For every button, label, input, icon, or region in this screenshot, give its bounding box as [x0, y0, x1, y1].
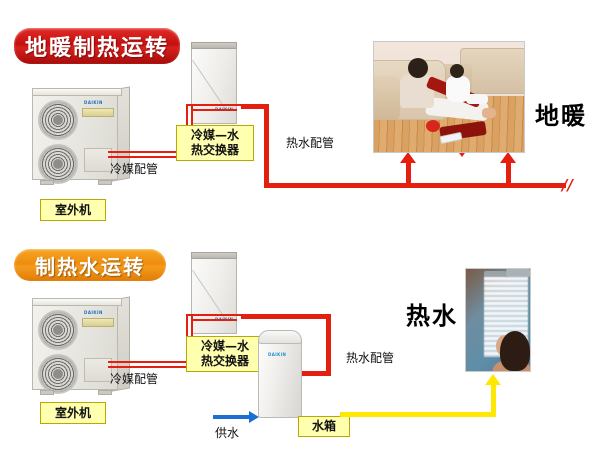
- label-hot-water-destination: 热水: [406, 296, 458, 331]
- floor-riser-left-arrow-icon: [400, 152, 416, 163]
- unit-badge: [82, 318, 114, 327]
- label-refrigerant-pipe-top: 冷媒配管: [110, 160, 158, 177]
- hydrobox-bottom: DAIKIN: [191, 252, 239, 336]
- unit-leg: [40, 180, 54, 185]
- daikin-logo: DAIKIN: [84, 310, 103, 315]
- refrigerant-pipe-top-outer: [186, 314, 242, 316]
- label-water-tank: 水箱: [298, 416, 350, 437]
- hydrobox-top-cover: [191, 42, 237, 49]
- hydrobox-top: DAIKIN: [191, 42, 239, 126]
- refrigerant-pipe-top-inner: [191, 319, 237, 321]
- hot-water-pipe-bottom-vertical: [326, 314, 331, 376]
- water-tank-body: [258, 336, 302, 418]
- refrigerant-pipe-top-outer: [186, 104, 242, 106]
- water-tank-top: [258, 330, 302, 344]
- refrigerant-pipe-top-inner: [191, 109, 237, 111]
- photo-shower-head-right: [506, 269, 530, 277]
- section-banner-hot-water: 制热水运转: [14, 249, 166, 281]
- label-refrigerant-pipe-bottom: 冷媒配管: [110, 370, 158, 387]
- photo-person-hair: [500, 331, 530, 371]
- floor-riser-left: [406, 162, 411, 186]
- photo-child-head: [450, 64, 464, 78]
- water-supply-pipe: [213, 415, 251, 419]
- hydrobox-body: [191, 258, 237, 334]
- hot-water-pipe-to-tank: [300, 371, 331, 376]
- photo-living-room: [373, 41, 525, 153]
- photo-child-body: [446, 76, 470, 102]
- floor-riser-right: [506, 162, 511, 186]
- daikin-logo: DAIKIN: [268, 352, 286, 357]
- label-outdoor-unit-top: 室外机: [40, 199, 106, 221]
- daikin-logo: DAIKIN: [84, 100, 103, 105]
- label-hot-water-pipe-bottom: 热水配管: [346, 349, 394, 366]
- unit-leg: [98, 390, 112, 395]
- floor-riser-right-arrow-icon: [500, 152, 516, 163]
- water-supply-arrow-icon: [249, 411, 259, 423]
- outdoor-unit-top-cover: [32, 298, 122, 306]
- label-floor-heating-destination: 地暖: [535, 96, 587, 131]
- hot-water-pipe-bottom-top: [241, 314, 331, 319]
- fan-hub-icon: [53, 325, 63, 335]
- pipe-break-symbol: //: [562, 178, 573, 193]
- unit-leg: [40, 390, 54, 395]
- photo-adult-foot: [482, 108, 496, 118]
- photo-red-ball: [426, 120, 440, 132]
- fan-hub-icon: [53, 159, 63, 169]
- photo-sofa-left-arm: [373, 76, 400, 120]
- refrigerant-pipe-horizontal-inner: [108, 366, 193, 368]
- photo-shower: [465, 268, 531, 372]
- water-tank: DAIKIN: [258, 330, 304, 422]
- section-banner-floor-heating: 地暖制热运转: [14, 28, 180, 64]
- diagram-canvas: 地暖制热运转 DAIKIN 室外机 DAIKIN 冷媒配管 冷媒—水 热交换器: [0, 0, 600, 449]
- fan-hub-icon: [53, 115, 63, 125]
- photo-adult-head: [408, 58, 428, 78]
- hydrobox-top-cover: [191, 252, 237, 259]
- label-heat-exchanger-bottom: 冷媒—水 热交换器: [186, 336, 264, 372]
- tank-outlet-pipe-horizontal: [340, 412, 496, 417]
- unit-badge: [82, 108, 114, 117]
- label-heat-exchanger-top: 冷媒—水 热交换器: [176, 125, 254, 161]
- hydrobox-body: [191, 48, 237, 124]
- label-outdoor-unit-bottom: 室外机: [40, 402, 106, 424]
- hot-water-pipe-horizontal: [264, 183, 566, 188]
- outdoor-unit-top-cover: [32, 88, 122, 96]
- unit-leg: [98, 180, 112, 185]
- tank-outlet-arrow-icon: [485, 374, 501, 385]
- fan-hub-icon: [53, 369, 63, 379]
- tank-outlet-pipe-vertical: [491, 384, 496, 414]
- label-water-supply: 供水: [215, 424, 239, 441]
- refrigerant-pipe-horizontal-outer: [108, 361, 193, 363]
- hot-water-pipe-vertical: [264, 104, 269, 188]
- label-hot-water-pipe-top: 热水配管: [286, 134, 334, 151]
